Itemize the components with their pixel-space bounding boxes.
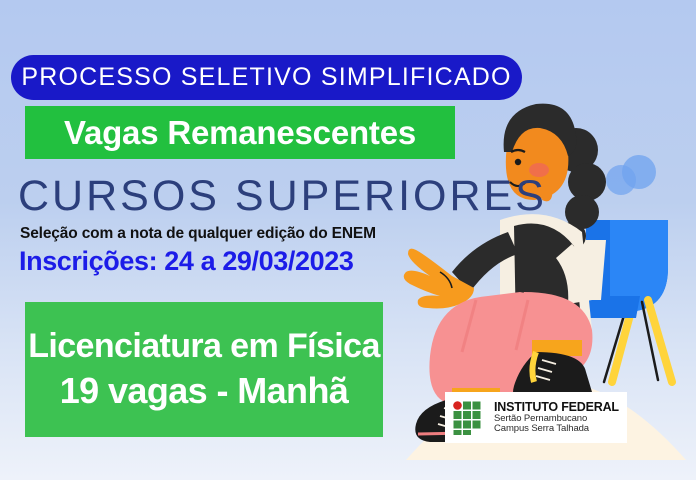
- process-banner-label: PROCESSO SELETIVO SIMPLIFICADO: [21, 63, 511, 92]
- headline-band: Vagas Remanescentes: [25, 106, 455, 159]
- accent-circle-b: [606, 165, 636, 195]
- eye: [515, 159, 521, 165]
- eyebrow: [511, 150, 525, 152]
- instituto-federal-mark-icon: [453, 401, 487, 435]
- leg-front: [511, 292, 593, 378]
- sleeve-raised: [452, 232, 518, 292]
- chair-legs: [574, 300, 672, 382]
- course-availability: 19 vagas - Manhã: [60, 370, 349, 411]
- chair-seat: [546, 296, 640, 318]
- course-name: Licenciatura em Física: [28, 328, 380, 365]
- hair-front: [504, 104, 577, 156]
- institution-logo-card: INSTITUTO FEDERAL Sertão Pernambucano Ca…: [445, 392, 627, 443]
- chair-back: [586, 220, 668, 312]
- course-box: Licenciatura em Física 19 vagas - Manhã: [25, 302, 383, 437]
- chair-back-highlight: [610, 220, 668, 312]
- hand-raised: [404, 249, 474, 309]
- sweater: [514, 224, 582, 333]
- process-banner: PROCESSO SELETIVO SIMPLIFICADO: [11, 55, 522, 100]
- hair-back: [554, 128, 606, 250]
- subtitle-label: CURSOS SUPERIORES: [18, 172, 547, 221]
- institution-title: INSTITUTO FEDERAL: [494, 401, 619, 415]
- shirt: [500, 214, 592, 336]
- leg-thigh: [429, 292, 546, 404]
- institution-logo-text: INSTITUTO FEDERAL Sertão Pernambucano Ca…: [494, 401, 619, 435]
- registration-label: Inscrições: 24 a 29/03/2023: [19, 246, 353, 277]
- criteria-label: Seleção com a nota de qualquer edição do…: [20, 225, 376, 243]
- sock-front: [532, 340, 582, 356]
- hand-lower: [532, 300, 571, 321]
- body-shadow: [514, 240, 606, 300]
- accent-circle-a: [622, 155, 656, 189]
- institution-line-3: Campus Serra Talhada: [494, 424, 619, 434]
- headline-label: Vagas Remanescentes: [64, 114, 416, 152]
- sleeve-lower: [556, 244, 592, 304]
- leg-crease: [462, 300, 528, 352]
- poster-canvas: PROCESSO SELETIVO SIMPLIFICADO Vagas Rem…: [0, 0, 696, 480]
